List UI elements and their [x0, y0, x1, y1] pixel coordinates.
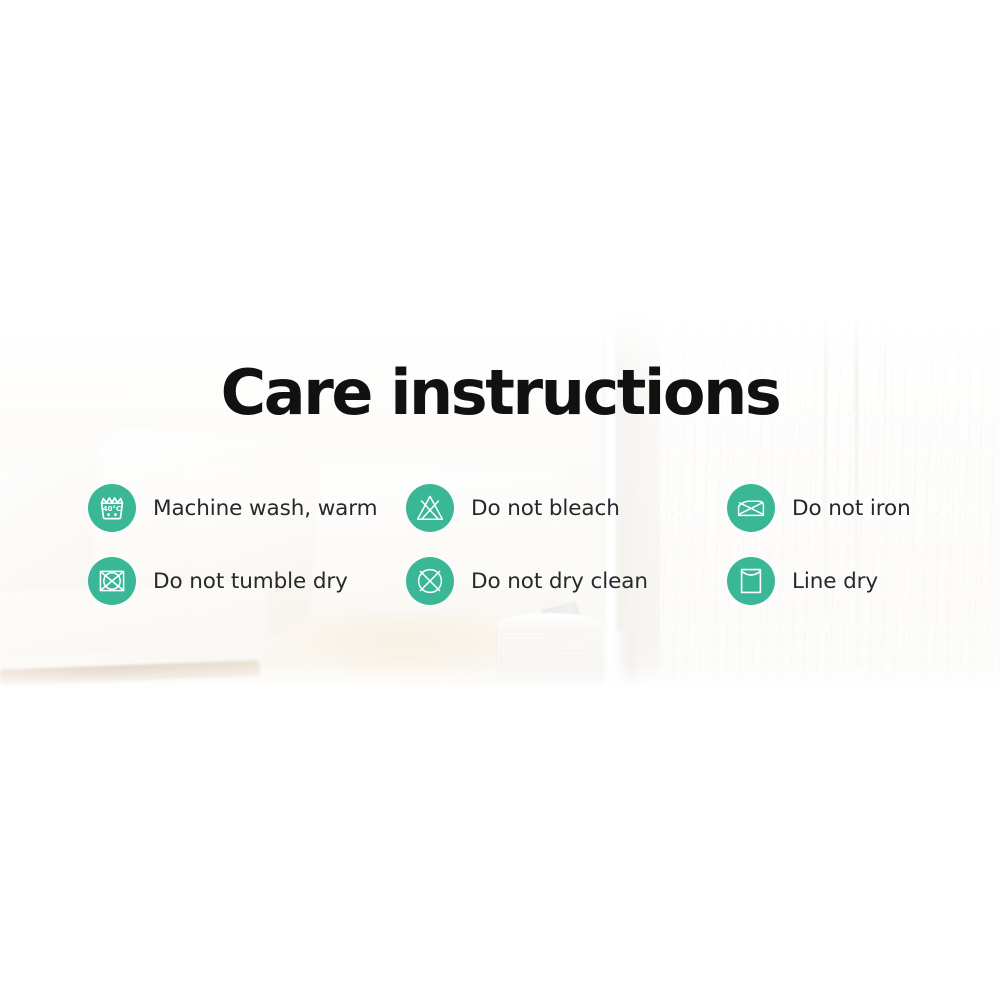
care-item-label: Do not tumble dry [153, 569, 348, 594]
banner-content: Care instructions 40°C Machine wash, war… [0, 0, 1000, 1000]
page-title: Care instructions [0, 362, 1000, 424]
care-item-do-not-bleach: Do not bleach [406, 484, 620, 532]
care-item-label: Do not iron [792, 496, 911, 521]
svg-text:40°C: 40°C [103, 505, 121, 513]
tumble-dry-crossed-icon [88, 557, 136, 605]
care-instructions-banner: Care instructions 40°C Machine wash, war… [0, 0, 1000, 1000]
line-dry-icon [727, 557, 775, 605]
care-item-do-not-dry-clean: Do not dry clean [406, 557, 648, 605]
care-item-do-not-tumble-dry: Do not tumble dry [88, 557, 348, 605]
triangle-crossed-icon [406, 484, 454, 532]
iron-crossed-icon [727, 484, 775, 532]
wash-tub-40c-icon: 40°C [88, 484, 136, 532]
care-item-label: Line dry [792, 569, 878, 594]
care-item-line-dry: Line dry [727, 557, 878, 605]
care-item-machine-wash-warm: 40°C Machine wash, warm [88, 484, 377, 532]
care-item-label: Do not dry clean [471, 569, 648, 594]
circle-crossed-icon [406, 557, 454, 605]
care-item-label: Machine wash, warm [153, 496, 377, 521]
care-item-label: Do not bleach [471, 496, 620, 521]
care-item-do-not-iron: Do not iron [727, 484, 911, 532]
